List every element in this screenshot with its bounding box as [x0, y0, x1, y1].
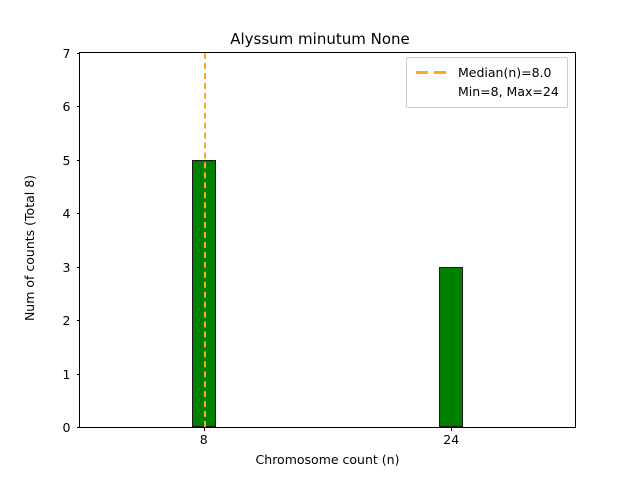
y-axis-tick: 2: [77, 320, 81, 321]
legend-label-median: Median(n)=8.0: [458, 65, 552, 80]
x-axis-label: Chromosome count (n): [79, 452, 576, 467]
y-axis-tick: 6: [77, 106, 81, 107]
y-axis-tick-label: 5: [63, 155, 71, 168]
plot-area: 01234567824: [79, 52, 576, 428]
median-line: [204, 53, 206, 427]
dashed-line-icon: [415, 67, 449, 79]
y-axis-label: Num of counts (Total 8): [22, 240, 38, 256]
x-axis-tick-label: 8: [200, 433, 208, 447]
y-axis-tick: 3: [77, 267, 81, 268]
y-axis-tick-label: 4: [63, 208, 71, 221]
chart-title: Alyssum minutum None: [0, 30, 640, 48]
matplotlib-figure: Alyssum minutum None 01234567824 Chromos…: [0, 0, 640, 480]
y-axis-tick: 1: [77, 374, 81, 375]
y-axis-tick-label: 0: [63, 422, 71, 435]
bar: [439, 267, 463, 427]
x-axis-tick: [451, 427, 452, 431]
y-axis-tick: 0: [77, 427, 81, 428]
y-axis-tick: 7: [77, 53, 81, 54]
legend-item-median: Median(n)=8.0: [415, 63, 559, 82]
y-axis-tick: 5: [77, 160, 81, 161]
legend-label-minmax: Min=8, Max=24: [458, 84, 559, 99]
y-axis-tick-label: 6: [63, 101, 71, 114]
y-axis-label-text: Num of counts (Total 8): [22, 175, 38, 321]
legend-item-minmax: Min=8, Max=24: [415, 82, 559, 101]
y-axis-tick-label: 7: [63, 48, 71, 61]
y-axis-tick-label: 2: [63, 315, 71, 328]
y-axis-tick-label: 1: [63, 368, 71, 381]
x-axis-tick-label: 24: [443, 433, 459, 447]
legend: Median(n)=8.0 Min=8, Max=24: [406, 57, 568, 108]
y-axis-tick: 4: [77, 213, 81, 214]
legend-blank-handle: [415, 86, 449, 98]
x-axis-tick: [204, 427, 205, 431]
y-axis-tick-label: 3: [63, 261, 71, 274]
